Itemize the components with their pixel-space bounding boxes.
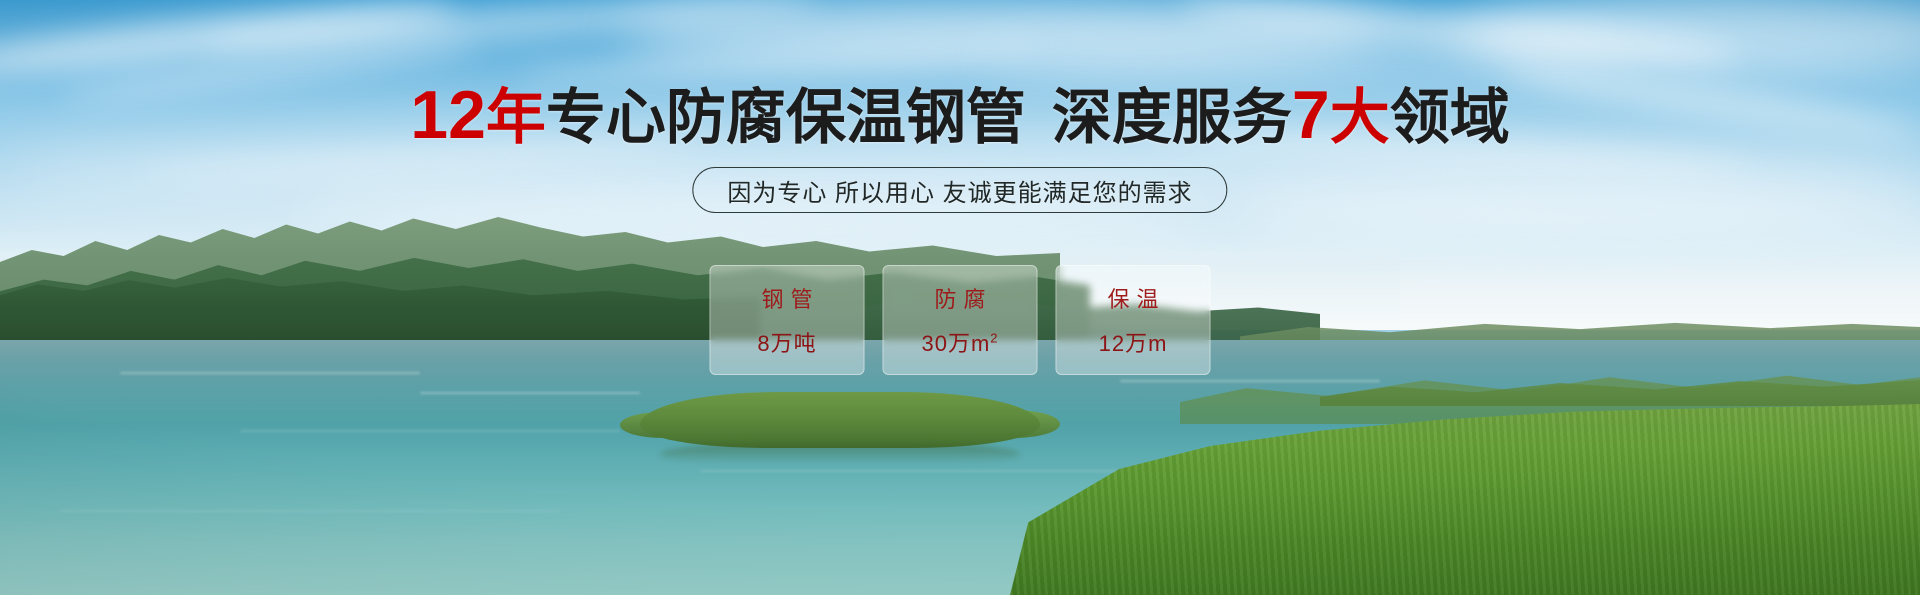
headline-fields-number: 7: [1292, 77, 1330, 153]
stat-card-steel-pipe: 钢管 8万吨: [710, 265, 865, 375]
stat-label: 保温: [1100, 282, 1165, 314]
stat-label: 钢管: [754, 282, 819, 314]
stat-value: 12万m: [1099, 326, 1168, 358]
headline-segment-focus: 专心防腐保温钢管: [546, 84, 1026, 151]
headline-segment-service: 深度服务: [1052, 84, 1292, 151]
stat-card-insulation: 保温 12万m: [1056, 265, 1211, 375]
banner-headline: 12年专心防腐保温钢管深度服务7大领域: [0, 84, 1920, 149]
headline-years-unit: 年: [486, 84, 546, 151]
banner-content: 12年专心防腐保温钢管深度服务7大领域 因为专心 所以用心 友诚更能满足您的需求…: [0, 0, 1920, 595]
headline-segment-domains: 领域: [1390, 84, 1510, 151]
subtitle-text: 因为专心 所以用心 友诚更能满足您的需求: [727, 173, 1192, 208]
stat-value-main: 12万m: [1099, 331, 1168, 356]
stat-value: 30万m2: [921, 326, 998, 358]
stat-card-anticorrosion: 防腐 30万m2: [883, 265, 1038, 375]
stat-value: 8万吨: [757, 326, 816, 358]
headline-years-number: 12: [410, 77, 486, 153]
stat-card-group: 钢管 8万吨 防腐 30万m2 保温 12万m: [710, 265, 1211, 375]
stat-value-exponent: 2: [990, 331, 998, 346]
subtitle-pill: 因为专心 所以用心 友诚更能满足您的需求: [692, 167, 1227, 213]
stat-value-main: 8万吨: [757, 331, 816, 356]
stat-label: 防腐: [927, 282, 992, 314]
hero-banner: 12年专心防腐保温钢管深度服务7大领域 因为专心 所以用心 友诚更能满足您的需求…: [0, 0, 1920, 595]
stat-value-main: 30万m: [921, 331, 990, 356]
headline-fields-unit: 大: [1330, 84, 1390, 151]
